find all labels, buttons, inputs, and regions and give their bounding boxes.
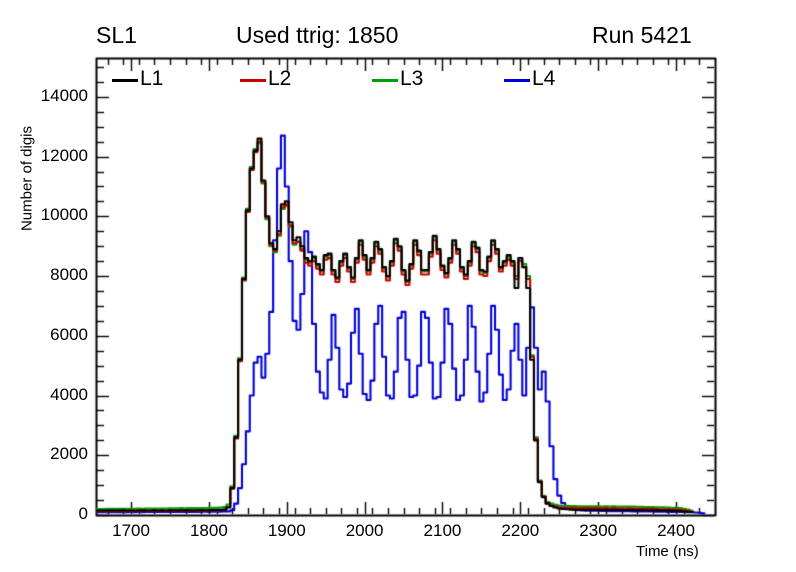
legend-label-l3: L3 [400, 67, 423, 91]
title-run-number: Run 5421 [592, 22, 692, 49]
legend-swatch-l2 [240, 79, 266, 82]
y-tick-label: 6000 [18, 325, 88, 345]
x-axis-label: Time (ns) [636, 543, 699, 560]
y-tick-label: 4000 [18, 385, 88, 405]
x-tick-label: 1800 [174, 521, 244, 541]
x-tick-label: 2200 [485, 521, 555, 541]
y-tick-label: 8000 [18, 265, 88, 285]
x-tick-label: 1700 [96, 521, 166, 541]
y-tick-label: 2000 [18, 444, 88, 464]
plot-canvas [0, 0, 796, 572]
title-used-ttrig: Used ttrig: 1850 [236, 22, 398, 49]
title-sl: SL1 [96, 22, 137, 49]
y-tick-label: 0 [18, 504, 88, 524]
x-tick-label: 2000 [330, 521, 400, 541]
legend-label-l1: L1 [140, 67, 163, 91]
x-tick-label: 2100 [407, 521, 477, 541]
x-tick-label: 2300 [563, 521, 633, 541]
y-tick-label: 14000 [18, 86, 88, 106]
y-axis-label: Number of digis [19, 109, 36, 249]
x-tick-label: 1900 [252, 521, 322, 541]
x-tick-label: 2400 [641, 521, 711, 541]
legend-swatch-l4 [504, 79, 530, 82]
y-tick-label: 12000 [18, 146, 88, 166]
legend-swatch-l1 [112, 79, 138, 82]
legend-swatch-l3 [372, 79, 398, 82]
y-tick-label: 10000 [18, 205, 88, 225]
legend-label-l2: L2 [268, 67, 291, 91]
legend-label-l4: L4 [532, 67, 555, 91]
